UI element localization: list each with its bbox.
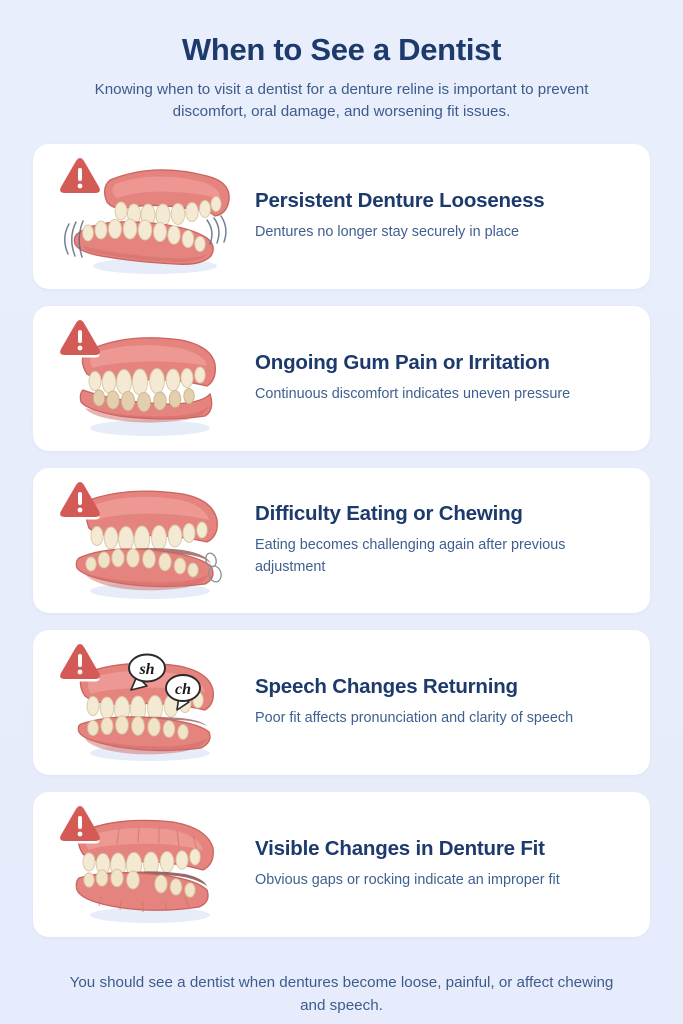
card-description: Obvious gaps or rocking indicate an impr…	[255, 870, 560, 891]
chewing-dentures-illustration	[55, 478, 245, 603]
symptom-card[interactable]: Ongoing Gum Pain or Irritation Continuou…	[33, 306, 650, 451]
gapped-dentures-illustration	[55, 802, 245, 927]
symptom-card[interactable]: Visible Changes in Denture Fit Obvious g…	[33, 792, 650, 937]
header: When to See a Dentist Knowing when to vi…	[0, 0, 683, 123]
warning-triangle-icon	[57, 644, 100, 682]
speech-dentures-illustration: sh ch	[55, 640, 245, 765]
symptom-card[interactable]: sh ch Speech Changes Returning Poor fit …	[33, 630, 650, 775]
symptom-card[interactable]: Difficulty Eating or Chewing Eating beco…	[33, 468, 650, 613]
card-title: Ongoing Gum Pain or Irritation	[255, 351, 570, 375]
card-text: Difficulty Eating or Chewing Eating beco…	[245, 502, 585, 578]
card-title: Difficulty Eating or Chewing	[255, 502, 585, 526]
card-text: Visible Changes in Denture Fit Obvious g…	[245, 837, 560, 892]
card-description: Poor fit affects pronunciation and clari…	[255, 708, 573, 729]
card-text: Speech Changes Returning Poor fit affect…	[245, 675, 573, 730]
page-title: When to See a Dentist	[42, 32, 641, 68]
card-text: Ongoing Gum Pain or Irritation Continuou…	[245, 351, 570, 406]
symptom-card[interactable]: Persistent Denture Looseness Dentures no…	[33, 144, 650, 289]
card-description: Eating becomes challenging again after p…	[255, 535, 585, 578]
card-title: Speech Changes Returning	[255, 675, 573, 699]
svg-text:sh: sh	[138, 661, 154, 678]
page-subtitle: Knowing when to visit a dentist for a de…	[62, 79, 622, 123]
warning-triangle-icon	[57, 320, 100, 358]
card-text: Persistent Denture Looseness Dentures no…	[245, 189, 544, 244]
card-description: Dentures no longer stay securely in plac…	[255, 222, 544, 243]
card-title: Persistent Denture Looseness	[255, 189, 544, 213]
symptom-card-list: Persistent Denture Looseness Dentures no…	[0, 144, 683, 937]
warning-triangle-icon	[57, 806, 100, 844]
card-description: Continuous discomfort indicates uneven p…	[255, 384, 570, 405]
footer-summary: You should see a dentist when dentures b…	[0, 972, 683, 1018]
card-title: Visible Changes in Denture Fit	[255, 837, 560, 861]
warning-triangle-icon	[57, 158, 100, 196]
closed-dentures-illustration	[55, 316, 245, 441]
loose-dentures-illustration	[55, 154, 245, 279]
svg-text:ch: ch	[175, 681, 191, 698]
